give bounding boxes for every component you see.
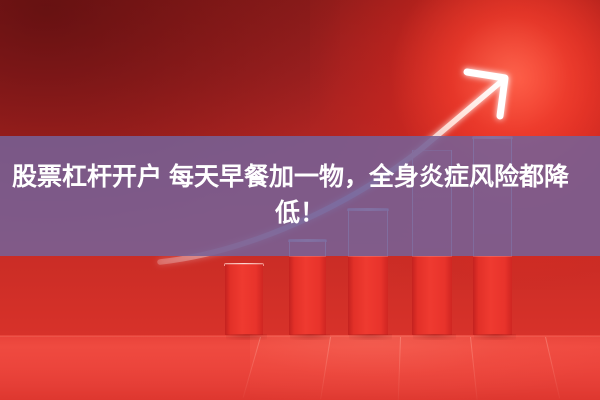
caption-text-block: 股票杠杆开户 每天早餐加一物，全身炎症风险都降 低！ bbox=[0, 136, 600, 256]
promo-banner-image: 股票杠杆开户 每天早餐加一物，全身炎症风险都降 低！ bbox=[0, 0, 600, 400]
headline-line-1: 股票杠杆开户 每天早餐加一物，全身炎症风险都降 bbox=[4, 161, 596, 195]
headline-line-2: 低！ bbox=[275, 197, 325, 231]
